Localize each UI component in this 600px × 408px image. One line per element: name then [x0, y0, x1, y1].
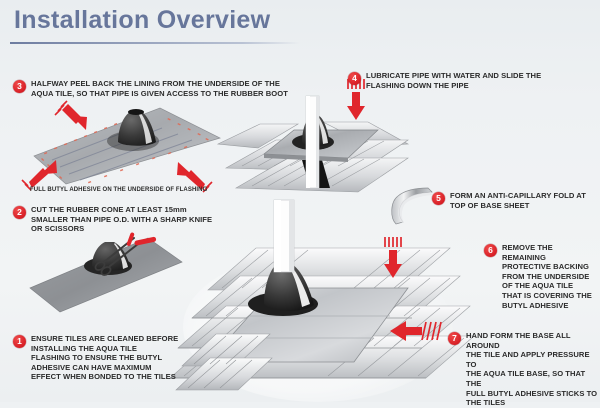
step-4-number: 4	[348, 72, 361, 85]
arrow-step6-down	[382, 236, 404, 280]
step-1: 1 ENSURE TILES ARE CLEANED BEFORE INSTAL…	[13, 334, 193, 382]
illo-tile-edge-detail	[182, 322, 272, 398]
step-2-number: 2	[13, 206, 26, 219]
step-5-number: 5	[432, 192, 445, 205]
page-title: Installation Overview	[14, 6, 270, 35]
arrow-step3-top	[60, 100, 96, 134]
step-2-text: CUT THE RUBBER CONE AT LEAST 15mm SMALLE…	[31, 205, 212, 234]
step-5: 5 FORM AN ANTI-CAPILLARY FOLD AT TOP OF …	[432, 191, 598, 210]
step-4-text: LUBRICATE PIPE WITH WATER AND SLIDE THE …	[366, 71, 541, 90]
title-underline	[10, 42, 300, 44]
step-6-number: 6	[484, 244, 497, 257]
arrow-step7-left	[388, 318, 444, 344]
step-2: 2 CUT THE RUBBER CONE AT LEAST 15mm SMAL…	[13, 205, 238, 234]
step-1-number: 1	[13, 335, 26, 348]
step-3: 3 HALFWAY PEEL BACK THE LINING FROM THE …	[13, 79, 299, 98]
step-7-number: 7	[448, 332, 461, 345]
diagram-canvas: Installation Overview	[0, 0, 600, 402]
illo-pipe-through-flashing	[218, 96, 408, 196]
step-6: 6 REMOVE THE REMAINING PROTECTIVE BACKIN…	[484, 243, 596, 310]
step-7: 7 HAND FORM THE BASE ALL AROUND THE TILE…	[448, 331, 600, 408]
illo-anti-capillary-fold	[388, 186, 436, 230]
note-butyl-adhesive: FULL BUTYL ADHESIVE ON THE UNDERSIDE OF …	[30, 186, 260, 194]
step-5-text: FORM AN ANTI-CAPILLARY FOLD AT TOP OF BA…	[450, 191, 586, 210]
step-6-text: REMOVE THE REMAINING PROTECTIVE BACKING …	[502, 243, 592, 310]
step-1-text: ENSURE TILES ARE CLEANED BEFORE INSTALLI…	[31, 334, 178, 382]
step-4: 4 LUBRICATE PIPE WITH WATER AND SLIDE TH…	[348, 71, 596, 90]
step-3-number: 3	[13, 80, 26, 93]
step-3-text: HALFWAY PEEL BACK THE LINING FROM THE UN…	[31, 79, 288, 98]
step-7-text: HAND FORM THE BASE ALL AROUND THE TILE A…	[466, 331, 600, 408]
